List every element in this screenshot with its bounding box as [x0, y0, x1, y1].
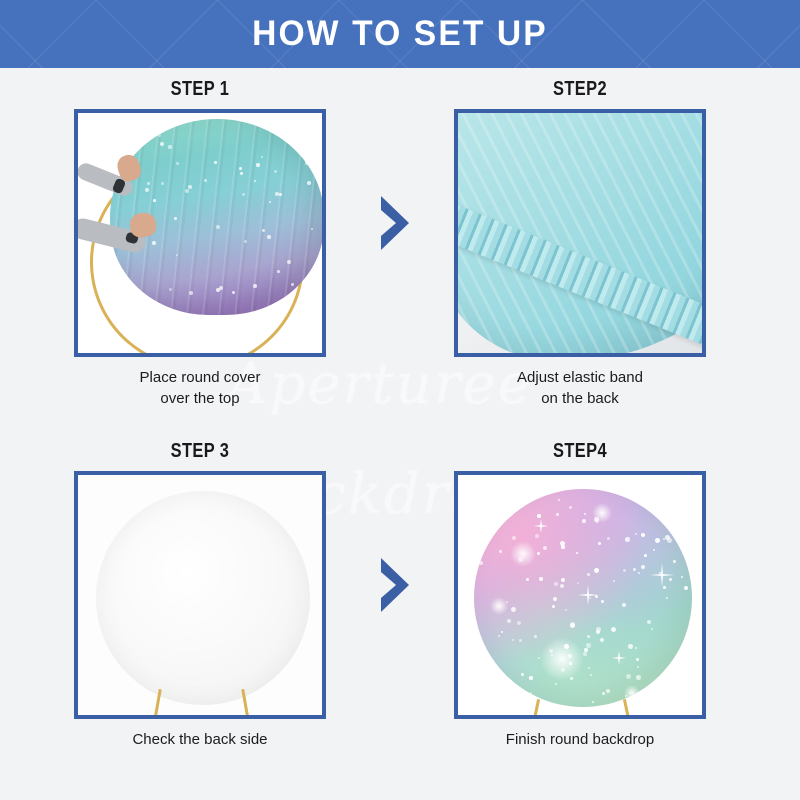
- step-2-title: STEP2: [465, 78, 695, 101]
- chevron-right-icon: [375, 194, 417, 252]
- step-2-caption: Adjust elastic band on the back: [440, 367, 720, 409]
- step-card-3: STEP 3 Check the back side: [60, 440, 340, 750]
- page-header: HOW TO SET UP: [0, 0, 800, 68]
- page-title: HOW TO SET UP: [16, 0, 784, 68]
- light-orb: [510, 541, 536, 567]
- step-card-1: STEP 1 Place round cover over the top: [60, 78, 340, 409]
- step-1-title: STEP 1: [85, 78, 315, 101]
- step-3-photo: [74, 471, 326, 719]
- step-1-caption-line1: Place round cover: [60, 367, 340, 388]
- step-4-title: STEP4: [465, 440, 695, 463]
- sparkle-icon: [650, 563, 674, 587]
- step-1-caption: Place round cover over the top: [60, 367, 340, 409]
- step-3-title: STEP 3: [85, 440, 315, 463]
- step-2-caption-line2: on the back: [440, 388, 720, 409]
- chevron-right-icon: [375, 556, 417, 614]
- sparkle-icon: [612, 651, 626, 665]
- step-4-caption-line1: Finish round backdrop: [440, 729, 720, 750]
- sparkle-icon: [578, 585, 598, 605]
- steps-grid: STEP 1 Place round cover over the top: [0, 68, 800, 800]
- finished-backdrop: [474, 489, 692, 707]
- light-orb: [592, 503, 612, 523]
- light-orb: [490, 597, 508, 615]
- light-orb: [624, 685, 640, 701]
- sparkle-icon: [534, 519, 548, 533]
- step-4-caption: Finish round backdrop: [440, 729, 720, 750]
- backdrop-back-side: [96, 491, 310, 705]
- step-card-4: STEP4 Finish round backdrop: [440, 440, 720, 750]
- step-3-caption: Check the back side: [60, 729, 340, 750]
- step-4-photo: [454, 471, 706, 719]
- step-3-caption-line1: Check the back side: [60, 729, 340, 750]
- step-1-caption-line2: over the top: [60, 388, 340, 409]
- step-1-photo: [74, 109, 326, 357]
- step-card-2: STEP2 Adjust elastic band on the back: [440, 78, 720, 409]
- step-2-caption-line1: Adjust elastic band: [440, 367, 720, 388]
- step-2-photo: [454, 109, 706, 357]
- light-orb: [540, 637, 584, 681]
